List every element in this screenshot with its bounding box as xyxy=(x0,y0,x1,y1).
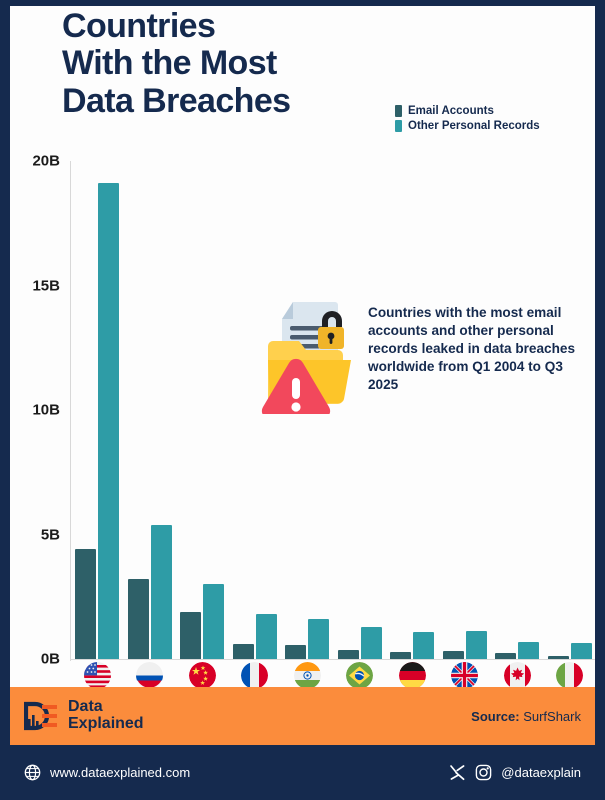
social-links[interactable]: @dataexplain xyxy=(449,764,581,781)
fr-flag-icon xyxy=(241,662,268,689)
bar-email-accounts xyxy=(180,612,201,659)
title-line-1: Countries xyxy=(62,8,392,45)
title-line-2: With the Most xyxy=(62,45,392,82)
bar-group xyxy=(72,154,122,659)
legend-swatch-other-personal-records xyxy=(395,120,402,132)
bar-other-personal-records xyxy=(413,632,434,659)
bar-other-personal-records xyxy=(308,619,329,659)
website-link[interactable]: www.dataexplained.com xyxy=(24,764,190,781)
in-flag-icon xyxy=(294,662,321,689)
chart-legend: Email Accounts Other Personal Records xyxy=(395,105,540,132)
y-axis-tick-label: 15B xyxy=(32,277,60,294)
brand-name-line-1: Data xyxy=(68,699,144,716)
bar-other-personal-records xyxy=(466,631,487,659)
instagram-icon[interactable] xyxy=(475,764,492,781)
cn-flag-icon xyxy=(189,662,216,689)
bar-email-accounts xyxy=(390,652,411,659)
brand-logo: Data Explained xyxy=(24,699,144,733)
bar-email-accounts xyxy=(495,653,516,659)
legend-label-email-accounts: Email Accounts xyxy=(408,105,494,117)
brand-name: Data Explained xyxy=(68,699,144,733)
x-twitter-icon[interactable] xyxy=(449,764,466,781)
ca-flag-icon xyxy=(504,662,531,689)
globe-icon xyxy=(24,764,41,781)
source-label: Source: xyxy=(471,709,519,724)
bar-other-personal-records xyxy=(98,183,119,659)
title-line-3: Data Breaches xyxy=(62,83,392,120)
bar-email-accounts xyxy=(285,645,306,659)
bar-other-personal-records xyxy=(361,627,382,659)
y-axis: 0B5B10B15B20B xyxy=(10,154,66,674)
bar-email-accounts xyxy=(128,579,149,659)
bar-other-personal-records xyxy=(571,643,592,659)
bar-email-accounts xyxy=(443,651,464,659)
br-flag-icon xyxy=(346,662,373,689)
y-axis-tick-label: 20B xyxy=(32,153,60,170)
y-axis-line xyxy=(70,161,71,661)
legend-label-other-personal-records: Other Personal Records xyxy=(408,120,540,132)
footer-contact-bar: www.dataexplained.com @dataexplain xyxy=(0,745,605,800)
bar-other-personal-records xyxy=(203,584,224,659)
page-title: Countries With the Most Data Breaches xyxy=(62,8,392,120)
ru-flag-icon xyxy=(136,662,163,689)
bar-chart: 0B5B10B15B20B U.S.RUSCHAFRAINDBRAGERUKCA… xyxy=(10,154,599,716)
infographic-poster: Countries With the Most Data Breaches Em… xyxy=(0,0,605,800)
y-axis-tick-label: 10B xyxy=(32,402,60,419)
bar-other-personal-records xyxy=(256,614,277,659)
website-url[interactable]: www.dataexplained.com xyxy=(50,765,190,780)
de-flag-icon xyxy=(399,662,426,689)
bar-email-accounts xyxy=(75,549,96,659)
y-axis-tick-label: 0B xyxy=(41,651,60,668)
us-flag-icon xyxy=(84,662,111,689)
folder-document-unlocked-padlock-warning-icon xyxy=(255,294,360,414)
bar-other-personal-records xyxy=(518,642,539,659)
annotation-callout: Countries with the most email accounts a… xyxy=(255,294,605,414)
bar-other-personal-records xyxy=(151,525,172,659)
bar-email-accounts xyxy=(548,656,569,659)
gb-flag-icon xyxy=(451,662,478,689)
legend-item-email-accounts: Email Accounts xyxy=(395,105,540,117)
annotation-text: Countries with the most email accounts a… xyxy=(368,294,583,394)
x-axis-line xyxy=(70,659,595,660)
y-axis-tick-label: 5B xyxy=(41,526,60,543)
bar-email-accounts xyxy=(338,650,359,659)
legend-swatch-email-accounts xyxy=(395,105,402,117)
header: Countries With the Most Data Breaches Em… xyxy=(10,6,599,154)
bar-group xyxy=(177,154,227,659)
legend-item-other-personal-records: Other Personal Records xyxy=(395,120,540,132)
bar-group xyxy=(125,154,175,659)
footer-brand-bar: Data Explained Source: SurfShark xyxy=(0,687,605,745)
source-attribution: Source: SurfShark xyxy=(471,709,581,724)
bar-email-accounts xyxy=(233,644,254,659)
brand-name-line-2: Explained xyxy=(68,716,144,733)
source-value: SurfShark xyxy=(523,709,581,724)
social-handle[interactable]: @dataexplain xyxy=(501,765,581,780)
data-explained-logo-icon xyxy=(24,701,58,731)
it-flag-icon xyxy=(556,662,583,689)
